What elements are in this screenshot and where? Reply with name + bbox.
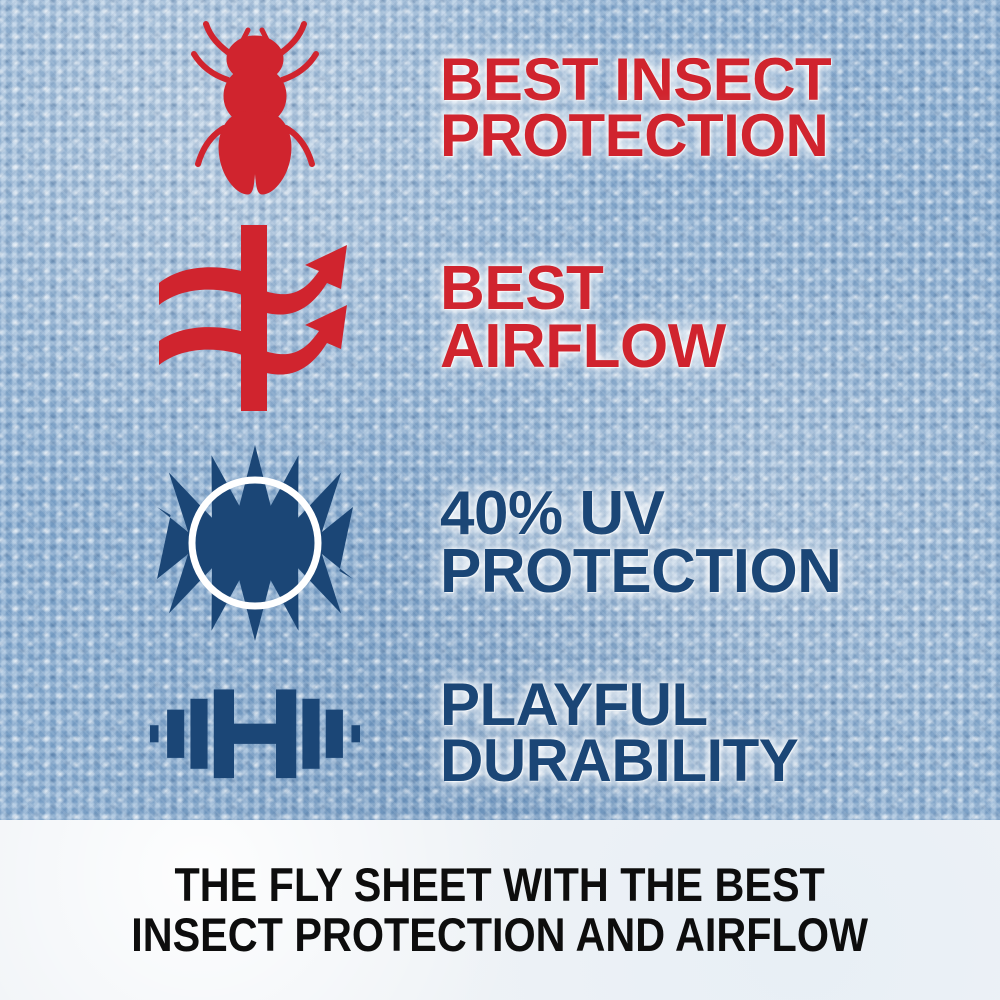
feature-text-cell: 40% UV PROTECTION xyxy=(360,485,990,600)
feature-icon-cell xyxy=(150,223,360,413)
feature-headline-airflow: BEST AIRFLOW xyxy=(440,260,990,375)
feature-row-durability: PLAYFUL DURABILITY xyxy=(150,650,990,815)
sun-icon xyxy=(155,443,355,643)
feature-text-cell: BEST AIRFLOW xyxy=(360,260,990,375)
caption-bar: THE FLY SHEET WITH THE BEST INSECT PROTE… xyxy=(0,820,1000,1000)
feature-headline-uv-protection: 40% UV PROTECTION xyxy=(440,485,990,600)
feature-icon-cell xyxy=(150,438,360,648)
caption-text: THE FLY SHEET WITH THE BEST INSECT PROTE… xyxy=(132,860,869,960)
infographic-page: BEST INSECT PROTECTION xyxy=(0,0,1000,1000)
feature-icon-cell xyxy=(150,18,360,198)
dumbbell-icon xyxy=(150,663,360,803)
feature-headline-insect-protection: BEST INSECT PROTECTION xyxy=(440,52,990,164)
feature-headline-durability: PLAYFUL DURABILITY xyxy=(440,677,990,789)
fly-icon xyxy=(180,18,330,198)
feature-text-cell: PLAYFUL DURABILITY xyxy=(360,677,990,789)
airflow-arrows-icon xyxy=(155,223,355,413)
feature-row-uv-protection: 40% UV PROTECTION xyxy=(150,435,990,650)
feature-row-insect-protection: BEST INSECT PROTECTION xyxy=(150,10,990,205)
feature-text-cell: BEST INSECT PROTECTION xyxy=(360,52,990,164)
feature-row-airflow: BEST AIRFLOW xyxy=(150,215,990,420)
feature-icon-cell xyxy=(150,663,360,803)
